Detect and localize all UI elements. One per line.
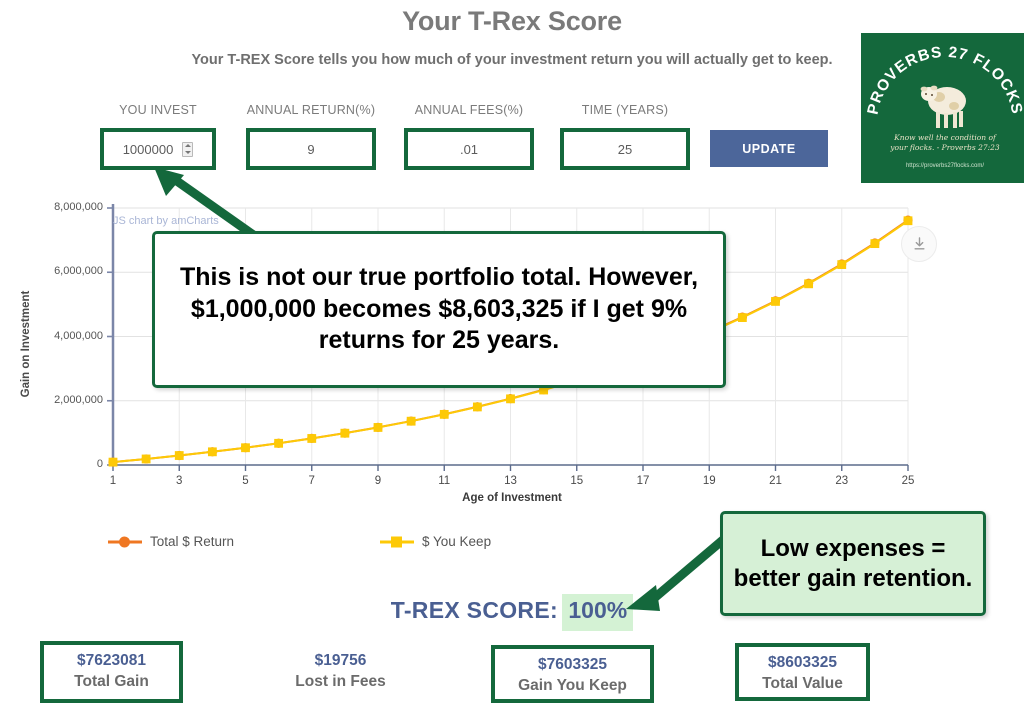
- summary-card-total-gain: $7623081 Total Gain: [40, 641, 183, 703]
- x-tick-label: 19: [694, 475, 724, 487]
- summary-card-gain-you-keep: $7603325 Gain You Keep: [491, 645, 654, 703]
- x-tick-label: 3: [164, 475, 194, 487]
- summary-caption-total-gain: Total Gain: [44, 672, 179, 693]
- input-annual-fees-value: .01: [460, 142, 478, 157]
- y-tick-label: 0: [27, 458, 103, 470]
- summary-amount-total-gain: $7623081: [44, 651, 179, 672]
- legend-line-you-keep: [380, 540, 414, 543]
- label-time-years: TIME (YEARS): [566, 103, 684, 117]
- x-tick-label: 15: [562, 475, 592, 487]
- x-tick-label: 13: [496, 475, 526, 487]
- logo-url: https://proverbs27flocks.com/: [871, 163, 1019, 169]
- trex-score-label: T-REX SCORE:: [391, 597, 558, 623]
- summary-amount-total-value: $8603325: [739, 653, 866, 674]
- y-tick-label: 2,000,000: [27, 394, 103, 406]
- x-tick-label: 25: [893, 475, 923, 487]
- logo-script-text: Know well the condition of your flocks. …: [871, 133, 1019, 153]
- input-you-invest-value: 1000000: [123, 142, 174, 157]
- x-tick-label: 1: [98, 475, 128, 487]
- summary-caption-total-value: Total Value: [739, 674, 866, 695]
- legend-item-total-return[interactable]: Total $ Return: [108, 534, 234, 549]
- callout-portfolio: This is not our true portfolio total. Ho…: [152, 231, 726, 388]
- label-you-invest: YOU INVEST: [100, 103, 216, 117]
- y-tick-label: 6,000,000: [27, 265, 103, 277]
- input-you-invest[interactable]: 1000000: [100, 128, 216, 170]
- label-annual-fees: ANNUAL FEES(%): [403, 103, 535, 117]
- legend-marker-square: [391, 536, 402, 547]
- input-time-years-value: 25: [618, 142, 632, 157]
- trex-score-value: 100%: [562, 594, 633, 631]
- input-annual-fees[interactable]: .01: [404, 128, 534, 170]
- update-button[interactable]: UPDATE: [710, 130, 828, 167]
- summary-caption-lost-in-fees: Lost in Fees: [258, 672, 423, 693]
- x-tick-label: 11: [429, 475, 459, 487]
- summary-amount-gain-you-keep: $7603325: [495, 655, 650, 676]
- input-time-years[interactable]: 25: [560, 128, 690, 170]
- legend-item-you-keep[interactable]: $ You Keep: [380, 534, 491, 549]
- y-tick-label: 8,000,000: [27, 201, 103, 213]
- summary-caption-gain-you-keep: Gain You Keep: [495, 676, 650, 697]
- number-spinner-icon[interactable]: [182, 142, 193, 157]
- x-tick-label: 17: [628, 475, 658, 487]
- legend-label-total-return: Total $ Return: [150, 534, 234, 549]
- input-annual-return-value: 9: [307, 142, 314, 157]
- summary-card-total-value: $8603325 Total Value: [735, 643, 870, 701]
- logo-script-line-2: your flocks. - Proverbs 27:23: [871, 143, 1019, 153]
- x-tick-label: 9: [363, 475, 393, 487]
- brand-logo: PROVERBS 27 FLOCKS Know well the conditi…: [861, 33, 1024, 183]
- x-tick-label: 5: [231, 475, 261, 487]
- summary-amount-lost-in-fees: $19756: [258, 651, 423, 672]
- amcharts-credit: JS chart by amCharts: [113, 215, 219, 227]
- x-tick-label: 7: [297, 475, 327, 487]
- legend-marker-circle: [119, 536, 130, 547]
- input-annual-return[interactable]: 9: [246, 128, 376, 170]
- logo-script-line-1: Know well the condition of: [871, 133, 1019, 143]
- legend-line-total-return: [108, 540, 142, 543]
- x-axis-title: Age of Investment: [0, 492, 1024, 504]
- x-tick-label: 23: [827, 475, 857, 487]
- callout-expenses: Low expenses = better gain retention.: [720, 511, 986, 616]
- download-icon[interactable]: [901, 226, 937, 262]
- label-annual-return: ANNUAL RETURN(%): [236, 103, 386, 117]
- legend-label-you-keep: $ You Keep: [422, 534, 491, 549]
- download-glyph: [912, 237, 927, 252]
- summary-card-lost-in-fees: $19756 Lost in Fees: [258, 645, 423, 703]
- y-tick-label: 4,000,000: [27, 330, 103, 342]
- x-tick-label: 21: [761, 475, 791, 487]
- sheep-icon: [913, 75, 977, 131]
